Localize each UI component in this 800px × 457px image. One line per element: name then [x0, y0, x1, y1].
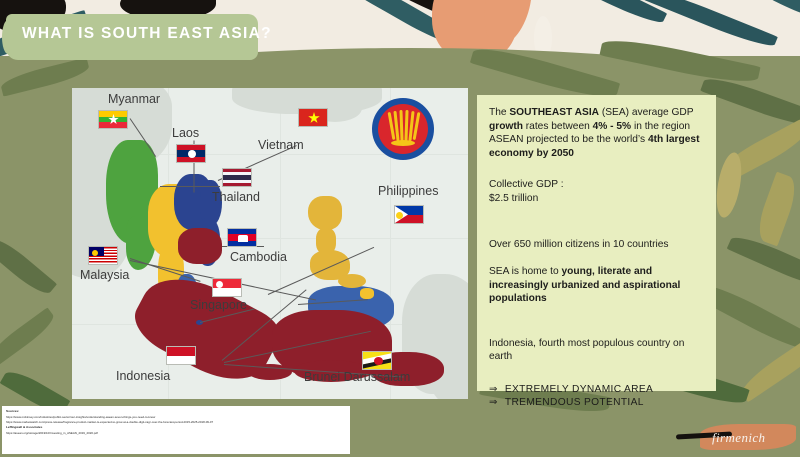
- asean-emblem-inner: [378, 104, 428, 154]
- leaf-blade: [0, 233, 57, 300]
- leader-line: [160, 186, 220, 187]
- map-label-myanmar: Myanmar: [108, 92, 160, 106]
- indonesia-flag: [166, 346, 196, 365]
- country-shape-philippines: [308, 196, 342, 230]
- gdp-text-4: in the region: [631, 121, 690, 132]
- map-label-indonesia: Indonesia: [116, 369, 170, 383]
- malaysia-flag: [88, 246, 118, 265]
- map-label-philippines: Philippines: [378, 184, 438, 198]
- vietnam-flag: [298, 108, 328, 127]
- map-label-laos: Laos: [172, 126, 199, 140]
- country-shape-brunei: [360, 288, 374, 299]
- source-line: https://asean.org/storage/2019/10/Invest…: [6, 431, 346, 436]
- facts-panel: The SOUTHEAST ASIA (SEA) average GDP gro…: [477, 95, 716, 391]
- bullet-label: TREMENDOUS POTENTIAL: [505, 396, 644, 410]
- gdp-text-2: (SEA) average GDP: [599, 107, 693, 118]
- map-label-thailand: Thailand: [212, 190, 260, 204]
- leaf-blade: [642, 0, 778, 52]
- country-shape-philippines: [338, 274, 366, 288]
- bullet-label: EXTREMELY DYNAMIC AREA: [505, 383, 653, 397]
- philippines-flag: [394, 205, 424, 224]
- fact-indonesia-population: Indonesia, fourth most populous country …: [489, 337, 704, 364]
- bullet-dynamic-area: ⇒ EXTREMELY DYNAMIC AREA: [489, 383, 704, 397]
- map-label-vietnam: Vietnam: [258, 138, 304, 152]
- sources-box: Sources: https://www.mckinsey.com/indust…: [2, 406, 350, 454]
- population-text: SEA is home to: [489, 266, 561, 277]
- leaf-blade: [0, 307, 58, 366]
- arrow-icon: ⇒: [489, 396, 498, 410]
- asean-text-1: ASEAN projected to be the world’s: [489, 134, 648, 145]
- gdp-bold-rate: 4% - 5%: [593, 121, 632, 132]
- gdp-bold-sea: SOUTHEAST ASIA: [509, 107, 599, 118]
- map-label-singapore: Singapore: [190, 298, 247, 312]
- gdp-bold-growth: growth: [489, 121, 523, 132]
- map-panel: Myanmar Laos Vietnam Thailand: [72, 88, 468, 399]
- map-label-brunei: Brunei Darussalam: [304, 370, 410, 384]
- fact-citizens: Over 650 million citizens in 10 countrie…: [489, 238, 704, 252]
- singapore-flag: [212, 278, 242, 297]
- collective-gdp-value: $2.5 trillion: [489, 192, 704, 206]
- asean-emblem-ring: [391, 140, 415, 146]
- gdp-text-1: The: [489, 107, 509, 118]
- fact-gdp-growth: The SOUTHEAST ASIA (SEA) average GDP gro…: [489, 106, 704, 160]
- arrow-icon: ⇒: [489, 383, 498, 397]
- cambodia-flag: [227, 228, 257, 247]
- collective-gdp-label: Collective GDP :: [489, 178, 704, 192]
- map-label-cambodia: Cambodia: [230, 250, 287, 264]
- slide-root: WHAT IS SOUTH EAST ASIA?: [0, 0, 800, 457]
- map-label-malaysia: Malaysia: [80, 268, 129, 282]
- bullet-tremendous-potential: ⇒ TREMENDOUS POTENTIAL: [489, 396, 704, 410]
- myanmar-flag: [98, 110, 128, 129]
- gdp-text-3: rates between: [523, 121, 593, 132]
- country-shape-cambodia: [178, 228, 222, 264]
- fact-collective-gdp: Collective GDP : $2.5 trillion: [489, 178, 704, 205]
- brunei-flag: [362, 351, 392, 370]
- fact-population: SEA is home to young, literate and incre…: [489, 265, 704, 306]
- asean-emblem: [372, 98, 434, 160]
- seed-pod: [712, 151, 745, 220]
- laos-flag: [176, 144, 206, 163]
- page-title: WHAT IS SOUTH EAST ASIA?: [22, 25, 272, 43]
- thailand-flag: [222, 168, 252, 187]
- brand-logo: firmenich: [712, 430, 765, 446]
- leaf-blade: [753, 172, 800, 247]
- leaf-blade: [543, 0, 667, 29]
